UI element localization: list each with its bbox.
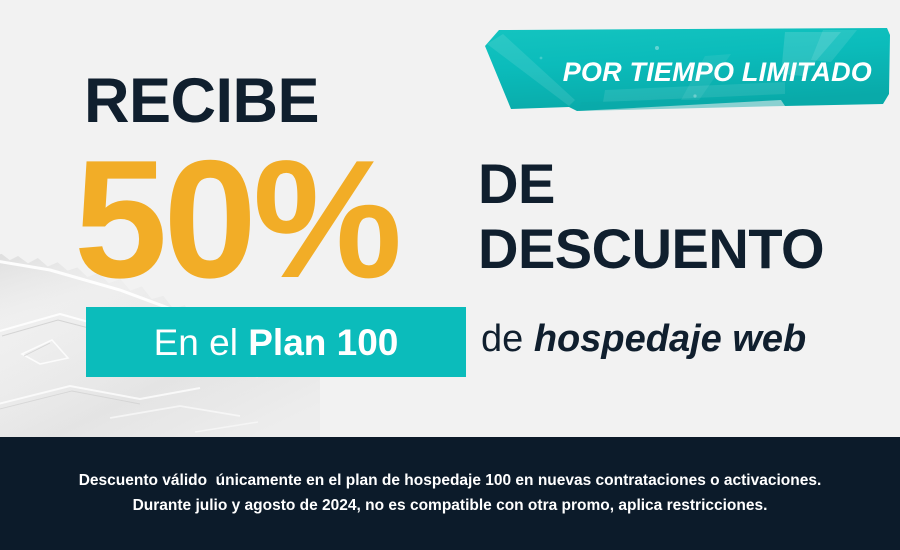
promotional-banner: POR TIEMPO LIMITADO RECIBE 50% DE DESCUE… [0, 0, 900, 550]
disclaimer-line-1: Descuento válido únicamente en el plan d… [79, 469, 822, 493]
discount-word-line-1: DE [478, 152, 824, 217]
limited-time-ribbon: POR TIEMPO LIMITADO [485, 28, 890, 116]
plan-name-label: Plan 100 [248, 322, 398, 363]
discount-percentage: 50% [74, 135, 398, 303]
discount-word-block: DE DESCUENTO [478, 152, 824, 282]
service-name-label: hospedaje web [534, 318, 806, 360]
plan-badge: En el Plan 100 [86, 307, 466, 377]
disclaimer-line-2: Durante julio y agosto de 2024, no es co… [133, 494, 768, 518]
limited-time-label: POR TIEMPO LIMITADO [485, 28, 890, 116]
service-prefix-label: de [481, 318, 534, 360]
plan-badge-text: En el Plan 100 [154, 324, 399, 361]
plan-prefix-label: En el [154, 322, 249, 363]
discount-word-line-2: DESCUENTO [478, 217, 824, 282]
disclaimer-band: Descuento válido únicamente en el plan d… [0, 437, 900, 550]
service-line: de hospedaje web [481, 320, 806, 358]
headline-recibe: RECIBE [84, 70, 319, 133]
